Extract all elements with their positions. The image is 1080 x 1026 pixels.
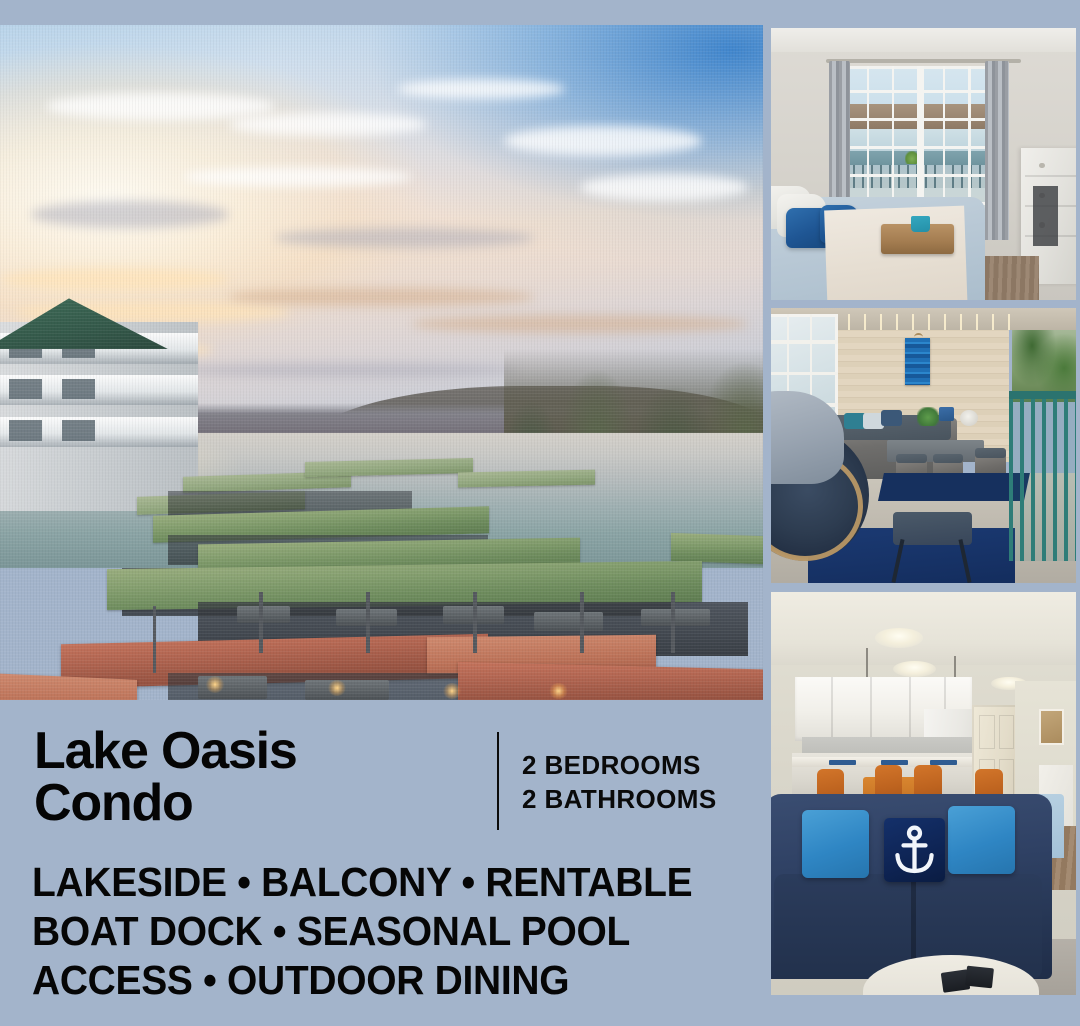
- living-room-photo: [771, 592, 1076, 995]
- building-window: [62, 379, 95, 400]
- window-mullion: [771, 372, 838, 376]
- balcony-photo: [771, 308, 1076, 583]
- cloud-streak: [504, 126, 702, 156]
- dock-post: [153, 606, 157, 674]
- boat: [534, 612, 603, 631]
- flush-ceiling-light: [893, 661, 936, 677]
- anchor-icon: [884, 818, 945, 882]
- teal-balcony-railing: [1009, 391, 1076, 562]
- cloud-streak: [31, 201, 229, 228]
- boat-dock-roof-red: [458, 662, 763, 700]
- door-mullion: [841, 174, 1000, 177]
- ottoman-cushion: [933, 454, 964, 463]
- features-line-2: BOAT DOCK • SEASONAL POOL: [32, 907, 708, 956]
- living-room-ceiling: [771, 592, 1076, 665]
- title-line-1: Lake Oasis: [34, 725, 297, 777]
- blue-throw-pillow: [802, 810, 869, 879]
- cloud-streak: [412, 315, 748, 333]
- framed-wall-art: [1039, 709, 1063, 745]
- blue-decor-box: [939, 407, 954, 421]
- boat: [305, 680, 389, 700]
- door-panel: [999, 715, 1015, 749]
- cloud-streak: [229, 288, 534, 306]
- cloud-streak: [168, 363, 519, 378]
- placemat: [829, 760, 856, 766]
- cloud-streak: [580, 174, 748, 201]
- dresser-drawer-line: [1025, 175, 1076, 177]
- spec-bathrooms: 2 BATHROOMS: [522, 782, 717, 816]
- listing-text-area: Lake Oasis Condo 2 BEDROOMS 2 BATHROOMS …: [0, 700, 771, 1026]
- door-mullion: [841, 90, 1000, 93]
- cloud-streak: [397, 79, 565, 99]
- dock-post: [671, 592, 675, 653]
- spec-bedrooms: 2 BEDROOMS: [522, 748, 717, 782]
- bedroom-ceiling: [771, 28, 1076, 52]
- dock-post: [580, 592, 584, 653]
- condo-building: [0, 322, 198, 511]
- listing-poster: Lake Oasis Condo 2 BEDROOMS 2 BATHROOMS …: [0, 0, 1080, 1026]
- building-window: [9, 420, 42, 441]
- cloud-streak: [275, 228, 534, 248]
- cabinet-seam: [870, 677, 872, 741]
- building-window: [62, 420, 95, 441]
- blue-throw-pillow: [948, 806, 1015, 875]
- railing-top-cap: [1009, 391, 1076, 399]
- table-plant: [917, 407, 938, 426]
- dock-post: [259, 592, 263, 653]
- dresser-knob: [1039, 163, 1044, 168]
- dock-lamp: [443, 683, 461, 699]
- building-window: [9, 379, 42, 400]
- ottoman-cushion: [896, 454, 927, 463]
- specs-divider-rule: [497, 732, 499, 830]
- boat: [237, 606, 290, 624]
- bedroom-photo: [771, 28, 1076, 300]
- teal-mug: [911, 216, 929, 232]
- blue-wall-sign: [905, 338, 929, 385]
- navy-area-rug-upper: [878, 473, 1030, 501]
- cabinet-seam: [831, 677, 833, 741]
- door-panel: [979, 715, 995, 749]
- door-mullion: [841, 118, 1000, 121]
- cloud-streak: [183, 167, 412, 187]
- ottoman-cushion: [975, 448, 1006, 457]
- curtain-right: [985, 61, 1009, 241]
- listing-specs: 2 BEDROOMS 2 BATHROOMS: [522, 748, 717, 816]
- folding-stand: [1033, 186, 1057, 246]
- hero-photo-lakefront-marina: [0, 25, 763, 700]
- boat-dock-roof-green: [458, 469, 595, 487]
- title-line-2: Condo: [34, 777, 297, 829]
- listing-features: LAKESIDE • BALCONY • RENTABLE BOAT DOCK …: [32, 858, 744, 1005]
- string-lights: [832, 314, 1015, 331]
- cloud-streak: [46, 93, 275, 120]
- listing-title: Lake Oasis Condo: [34, 725, 297, 829]
- tv-remote: [965, 965, 994, 988]
- navy-throw-pillow: [881, 410, 902, 427]
- cabinet-seam: [909, 677, 911, 741]
- features-line-3: ACCESS • OUTDOOR DINING: [32, 956, 708, 1005]
- cloud-streak: [0, 268, 229, 291]
- anchor-throw-pillow: [884, 818, 945, 882]
- features-line-1: LAKESIDE • BALCONY • RENTABLE: [32, 858, 708, 907]
- door-mullion: [841, 146, 1000, 149]
- dock-lamp: [549, 683, 567, 699]
- dock-post: [473, 592, 477, 653]
- dock-post: [366, 592, 370, 653]
- dock-lamp: [206, 676, 224, 692]
- window-mullion: [771, 340, 838, 344]
- cloud-streak: [229, 113, 427, 136]
